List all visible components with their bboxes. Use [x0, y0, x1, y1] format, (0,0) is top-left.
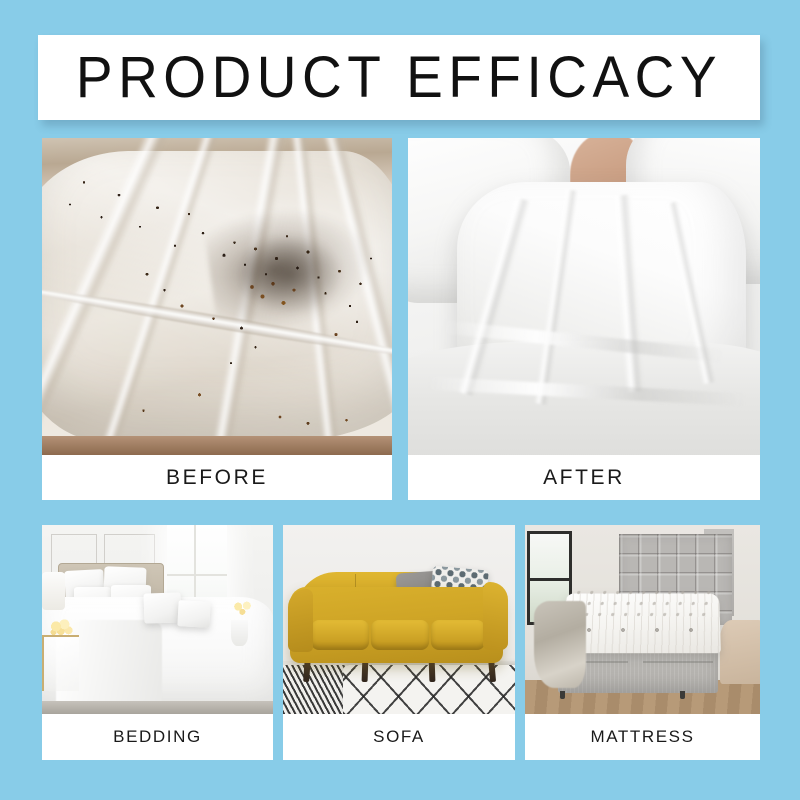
- armchair: [720, 620, 760, 684]
- before-card[interactable]: BEFORE: [42, 138, 392, 500]
- clean-pillow-photo: [408, 138, 760, 455]
- title-banner: PRODUCT EFFICACY: [38, 35, 760, 120]
- mattress-tufting-buttons: [572, 620, 713, 643]
- floor-strip: [42, 701, 273, 714]
- white-bedroom-scene: [42, 525, 273, 714]
- yellow-roses: [227, 597, 259, 622]
- yellow-sofa-scene: [283, 525, 515, 714]
- seat-cushion: [431, 620, 484, 650]
- accent-cushion: [178, 600, 212, 628]
- window-mullion: [527, 578, 572, 581]
- divan-mattress-photo: [525, 525, 760, 714]
- page-title: PRODUCT EFFICACY: [76, 48, 722, 106]
- before-label: BEFORE: [166, 466, 268, 490]
- accent-cushion: [143, 592, 181, 624]
- white-bedroom-photo: [42, 525, 273, 714]
- before-caption: BEFORE: [42, 455, 392, 500]
- seat-cushion: [371, 620, 429, 650]
- flower-vase: [231, 620, 247, 646]
- after-card[interactable]: AFTER: [408, 138, 760, 500]
- bed-foot: [560, 691, 565, 699]
- sofa-label: SOFA: [373, 727, 425, 747]
- window-mullion: [167, 574, 227, 576]
- sofa-caption: SOFA: [283, 714, 515, 760]
- bedding-caption: BEDDING: [42, 714, 273, 760]
- nightstand: [42, 635, 79, 692]
- grey-throw-blanket: [534, 601, 586, 688]
- bedding-label: BEDDING: [113, 727, 202, 747]
- poster-canvas: PRODUCT EFFICACY BEFORE: [0, 0, 800, 800]
- soiled-pillow-photo: [42, 138, 392, 455]
- after-label: AFTER: [543, 466, 625, 490]
- sofa-arm-right: [483, 582, 509, 650]
- sofa-card[interactable]: SOFA: [283, 525, 515, 760]
- mattress-caption: MATTRESS: [525, 714, 760, 760]
- soiled-pillow-scene: [42, 138, 392, 455]
- mattress-quilting: [566, 587, 719, 617]
- bed-foot: [680, 691, 685, 699]
- seat-cushion: [311, 620, 369, 650]
- bedding-card[interactable]: BEDDING: [42, 525, 273, 760]
- after-caption: AFTER: [408, 455, 760, 500]
- mattress-label: MATTRESS: [590, 727, 694, 747]
- dirt-specks: [42, 138, 392, 455]
- divan-drawer-line: [643, 661, 714, 663]
- floor-strip: [42, 436, 392, 455]
- yellow-roses: [47, 616, 77, 642]
- mattress-card[interactable]: MATTRESS: [525, 525, 760, 760]
- yellow-sofa-photo: [283, 525, 515, 714]
- divan-mattress-scene: [525, 525, 760, 714]
- table-lamp: [42, 572, 65, 610]
- clean-pillow-scene: [408, 138, 760, 455]
- sofa-arm-left: [288, 589, 314, 651]
